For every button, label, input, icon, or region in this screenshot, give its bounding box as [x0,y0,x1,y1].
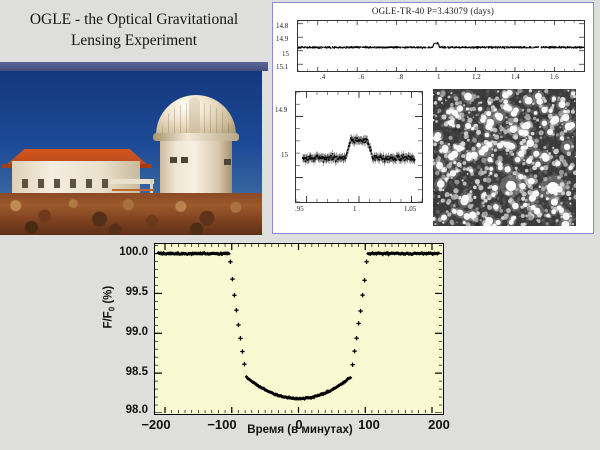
full-xtick-6: 1.6 [550,73,559,81]
main-xaxis-title: Время (в минутах) [196,424,404,436]
ogle-observatory-photo [0,71,262,235]
full-ytick-3: 15.1 [276,63,288,71]
full-xtick-1: .6 [359,73,364,81]
zoom-xtick-2: 1.05 [404,205,416,213]
full-phase-curve-plot [297,20,585,72]
full-xtick-4: 1.2 [472,73,481,81]
main-ytick-100-0: 100.0 [104,246,148,258]
transit-zoom-svg [296,92,422,202]
page-title: OGLE - the Optical Gravitational Lensing… [12,10,257,52]
dome-window-right [224,159,231,165]
main-ytick-98-5: 98.5 [104,366,148,378]
title-accent-bar [0,62,268,71]
zoom-xtick-1: 1 [353,205,357,213]
transit-light-curve-svg [155,244,442,413]
main-xtick-200: 200 [411,417,467,432]
building-canopy [110,179,154,184]
transit-zoom-plot [295,91,423,203]
ogle-panel-title: OGLE-TR-40 P=3.43079 (days) [273,6,593,16]
dome-slit [189,97,200,137]
zoom-ytick-1: 15 [281,151,288,159]
building-windows [22,179,118,188]
full-xtick-5: 1.4 [511,73,520,81]
zoom-xtick-0: .95 [295,205,304,213]
dome-window-left [170,157,177,163]
star-field-svg [433,89,576,226]
ogle-result-panel: OGLE-TR-40 P=3.43079 (days) 14.8 14.9 15… [272,2,594,234]
full-phase-curve-svg [298,21,584,71]
slide-root: OGLE - the Optical Gravitational Lensing… [0,0,600,450]
dome-ring [153,133,239,141]
full-xtick-0: .4 [320,73,325,81]
transit-light-curve-chart [154,243,444,415]
main-ytick-98-0: 98.0 [104,404,148,416]
star-field-image [433,89,576,226]
full-xtick-2: .8 [398,73,403,81]
main-yaxis-title: F/F0 (%) [102,286,116,329]
ground-rocks [0,193,262,235]
main-xtick-minus200: −200 [128,417,184,432]
full-xtick-3: 1 [437,73,441,81]
full-ytick-1: 14.9 [276,35,288,43]
dome-window-mid [181,157,188,163]
title-block: OGLE - the Optical Gravitational Lensing… [0,0,268,62]
zoom-ytick-0: 14.9 [275,106,287,114]
full-ytick-0: 14.8 [276,22,288,30]
full-ytick-2: 15 [282,50,289,58]
